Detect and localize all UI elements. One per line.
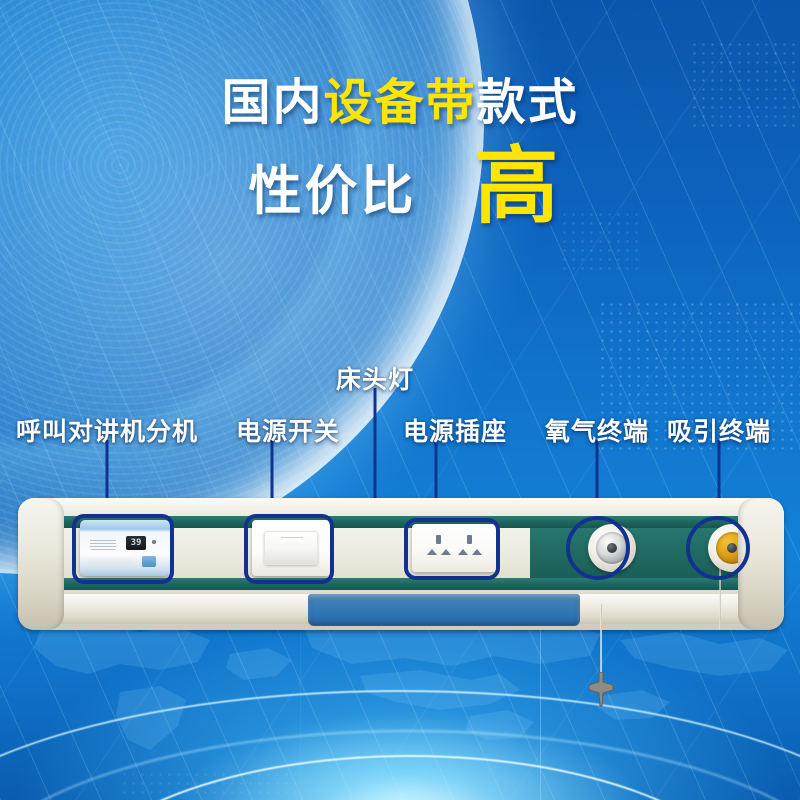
status-led-icon [152,540,156,544]
socket-earth-pin-icon [467,535,472,544]
oxygen-terminal-outlet[interactable] [588,524,636,572]
intercom-unit[interactable]: 39 [80,520,170,576]
socket-live-pin-icon [458,549,468,555]
power-outlet-plate[interactable] [412,524,496,572]
oxygen-terminal-face [596,532,628,564]
socket-neutral-pin-icon [441,549,451,555]
headline-line-2: 性价比高 [0,143,800,230]
pull-cord-hook-icon [586,672,616,710]
socket-live-pin-icon [427,549,437,555]
socket-earth-pin-icon [436,535,441,544]
intercom-call-button[interactable] [142,556,156,567]
suction-terminal-port [727,543,737,553]
headline-text-equipment-belt: 设备带 [323,76,476,130]
panel-stripe-bottom [64,578,738,590]
pull-cord [600,604,602,682]
panel-body: 39 [18,498,784,630]
headline-line-1: 国内设备带款式 [0,78,800,129]
intercom-slot [88,558,132,565]
headline-text-domestic: 国内 [221,76,323,130]
oxygen-terminal-port [607,543,617,553]
speaker-grille-icon [90,538,116,550]
medical-equipment-belt: 39 [18,498,784,630]
panel-end-cap-left [18,498,64,630]
headline-text-style: 款式 [477,76,579,130]
socket[interactable] [455,535,485,561]
bed-lamp-diffuser[interactable] [308,594,580,626]
panel-end-cap-right [738,498,784,630]
power-switch-rocker[interactable] [264,531,318,565]
socket-neutral-pin-icon [472,549,482,555]
headline-text-high: 高 [474,139,561,233]
headline-block: 国内设备带款式 性价比高 [0,78,800,230]
power-switch-plate[interactable] [252,520,330,576]
promo-image-stage: 国内设备带款式 性价比高 呼叫对讲机分机 电源开关 床头灯 电源插座 氧气终端 … [0,0,800,800]
socket[interactable] [424,535,454,561]
intercom-display: 39 [126,536,146,550]
headline-text-value-ratio: 性价比 [248,162,416,221]
